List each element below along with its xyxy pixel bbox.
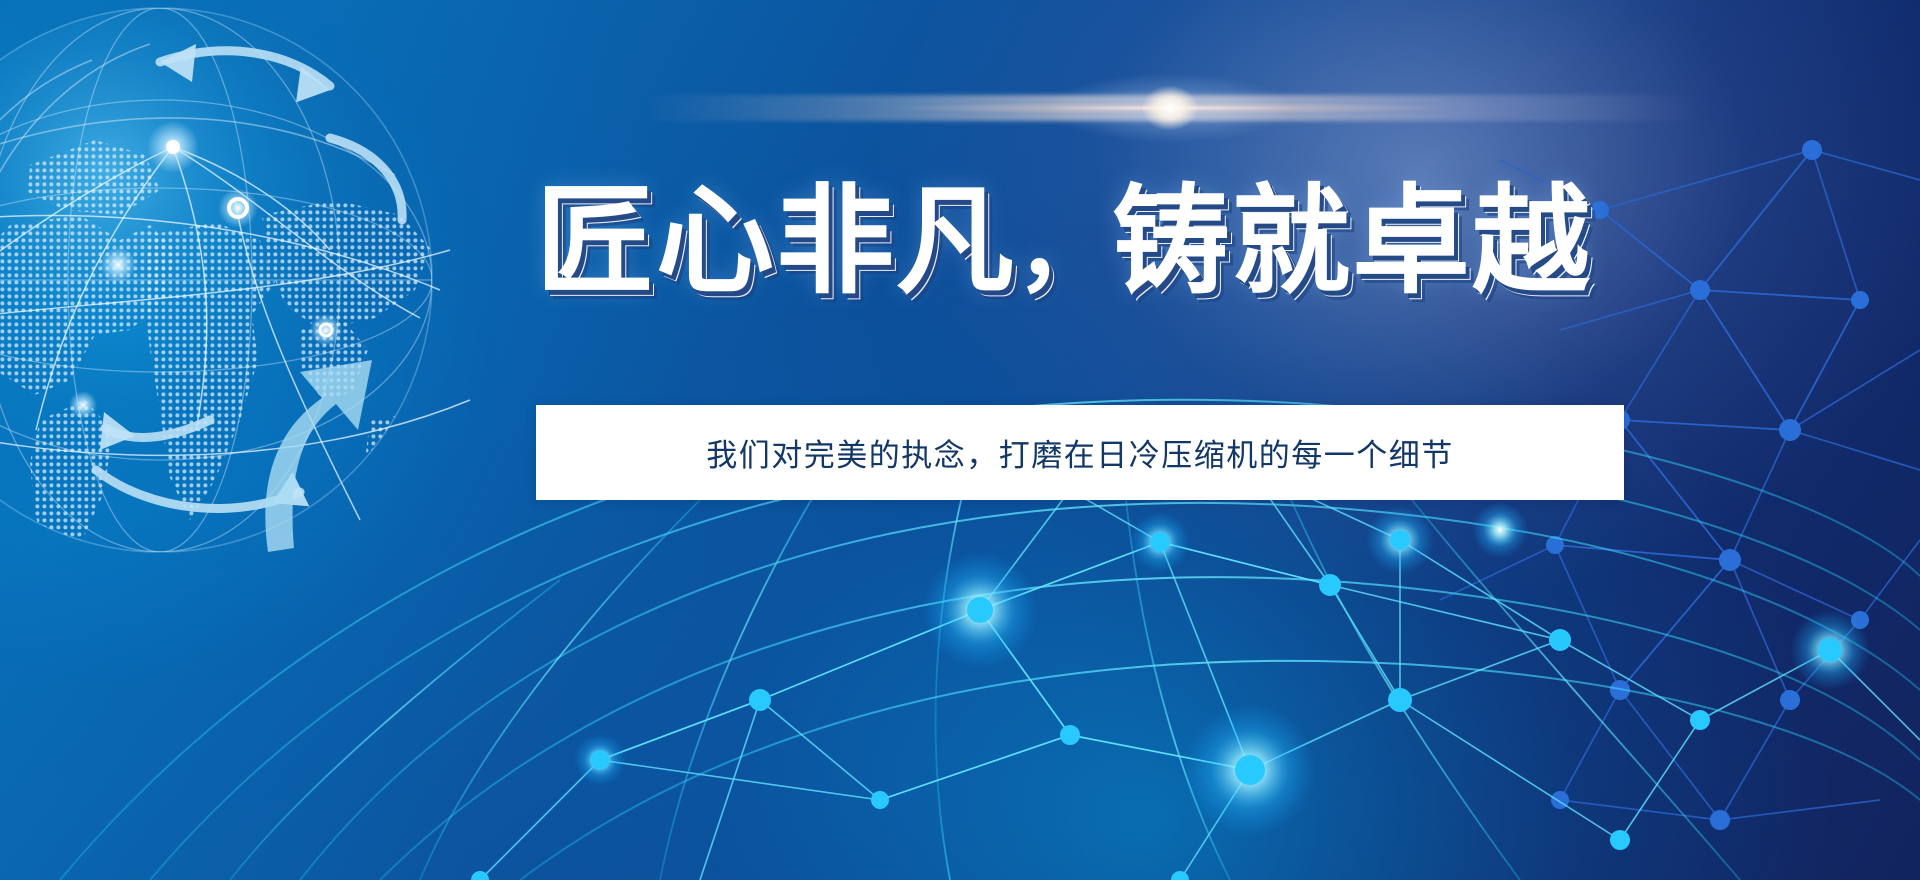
subtitle-text: 我们对完美的执念，打磨在日冷压缩机的每一个细节: [706, 430, 1454, 475]
mesh-node-glow: [574, 502, 1870, 836]
headline-comma: ，: [1016, 193, 1112, 305]
page-title: 匠心非凡，铸就卓越: [536, 178, 1592, 305]
globe-hotspot: [69, 121, 342, 419]
headline-part-2: 铸就卓越: [1112, 172, 1592, 310]
curved-arrow: [96, 51, 402, 509]
lens-flare-light: [890, 63, 1450, 153]
hero-banner: 匠心非凡，铸就卓越 我们对完美的执念，打磨在日冷压缩机的每一个细节: [0, 0, 1920, 880]
big-up-arrow: [265, 360, 372, 552]
headline-part-1: 匠心非凡: [536, 172, 1016, 310]
subtitle-bar: 我们对完美的执念，打磨在日冷压缩机的每一个细节: [536, 405, 1624, 500]
mesh-node: [471, 461, 1842, 880]
arrow-head: [100, 44, 334, 518]
